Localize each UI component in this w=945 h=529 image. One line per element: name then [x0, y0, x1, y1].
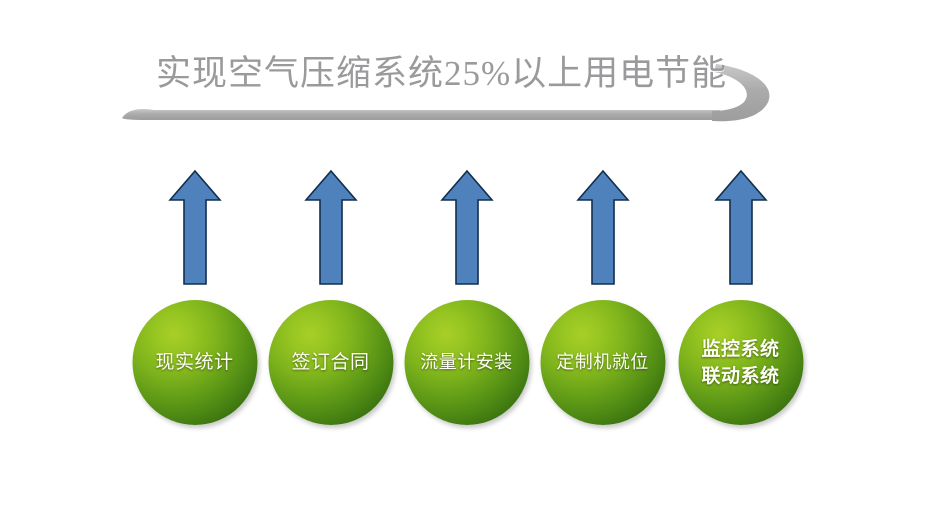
process-step-5[interactable]: 监控系统 联动系统: [678, 168, 803, 428]
arrow-up-icon: [575, 168, 631, 288]
page-title: 实现空气压缩系统25%以上用电节能: [156, 46, 756, 102]
step-label: 签订合同: [287, 350, 373, 375]
arrow-up-icon: [713, 168, 769, 288]
step-label: 现实统计: [151, 350, 237, 375]
step-bubble[interactable]: 现实统计: [132, 300, 257, 425]
step-bubble[interactable]: 签订合同: [268, 300, 393, 425]
process-step-1[interactable]: 现实统计: [132, 168, 257, 428]
step-bubble[interactable]: 定制机就位: [540, 300, 665, 425]
process-step-4[interactable]: 定制机就位: [540, 168, 665, 428]
slide-canvas: 实现空气压缩系统25%以上用电节能 现实统计 签订合同: [0, 0, 945, 529]
process-step-2[interactable]: 签订合同: [268, 168, 393, 428]
process-steps-row: 现实统计 签订合同 流量计安装: [132, 168, 796, 428]
step-label: 定制机就位: [552, 350, 653, 375]
step-label: 流量计安装: [416, 350, 517, 375]
step-label: 监控系统 联动系统: [697, 336, 783, 390]
arrow-up-icon: [439, 168, 495, 288]
step-bubble[interactable]: 流量计安装: [404, 300, 529, 425]
arrow-up-icon: [303, 168, 359, 288]
arrow-up-icon: [167, 168, 223, 288]
process-step-3[interactable]: 流量计安装: [404, 168, 529, 428]
step-bubble[interactable]: 监控系统 联动系统: [678, 300, 803, 425]
title-banner: 实现空气压缩系统25%以上用电节能: [120, 34, 780, 126]
